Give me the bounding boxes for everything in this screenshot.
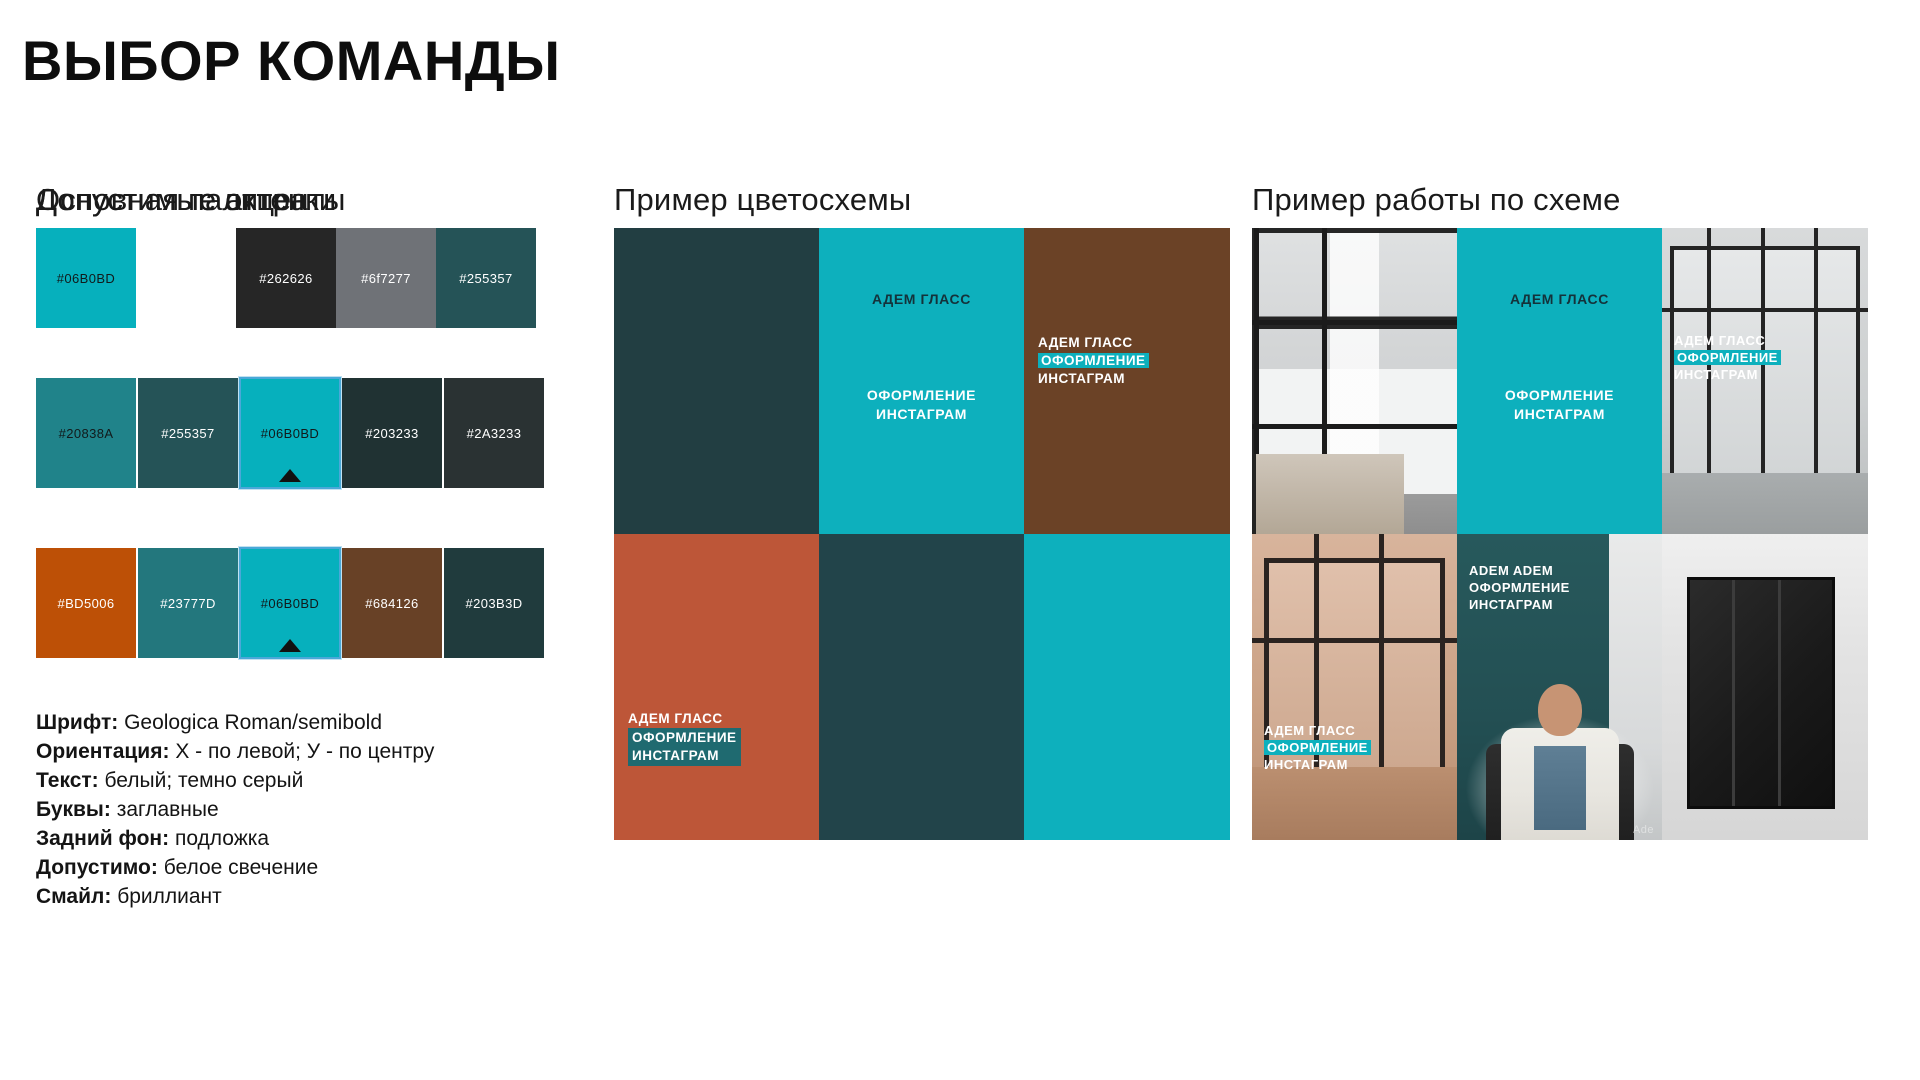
- scheme-cell-3-text: АДЕМ ГЛАСС ОФОРМЛЕНИЕ ИНСТАГРАМ: [1038, 334, 1149, 388]
- person-overlay-name: ADEM ADEM: [1469, 562, 1570, 579]
- teal-panel-line1: ОФОРМЛЕНИЕ: [1457, 386, 1662, 405]
- scheme-cell-4-line2: ИНСТАГРАМ: [632, 747, 737, 765]
- swatch-label: #BD5006: [57, 596, 114, 611]
- teal-panel-name: АДЕМ ГЛАСС: [1457, 290, 1662, 309]
- spec-value: подложка: [175, 827, 269, 850]
- swatch-accent-2[interactable]: #06B0BD: [240, 548, 340, 658]
- swatch-label: #06B0BD: [261, 426, 319, 441]
- scheme-cell-3-name: АДЕМ ГЛАСС: [1038, 334, 1149, 352]
- person-overlay-line2: ИНСТАГРАМ: [1469, 596, 1570, 613]
- swatch-shade-2[interactable]: #06B0BD: [240, 378, 340, 488]
- swatch-label: #684126: [365, 596, 418, 611]
- swatch-label: #203233: [365, 426, 418, 441]
- photo-bedroom: [1252, 228, 1457, 534]
- spec-value: X - по левой; У - по центру: [175, 740, 434, 763]
- wood-overlay-line1: ОФОРМЛЕНИЕ: [1264, 740, 1371, 755]
- spec-row-orientation: Ориентация: X - по левой; У - по центру: [36, 737, 434, 766]
- spec-row-font: Шрифт: Geologica Roman/semibold: [36, 708, 434, 737]
- spec-row-smile: Смайл: бриллиант: [36, 882, 434, 911]
- scheme-cell-2-line1: ОФОРМЛЕНИЕ: [819, 386, 1024, 405]
- spec-key: Текст:: [36, 769, 99, 792]
- swatch-main-3[interactable]: #255357: [436, 228, 536, 328]
- section-title-work: Пример работы по схеме: [1252, 182, 1621, 218]
- spec-row-allowed: Допустимо: белое свечение: [36, 853, 434, 882]
- selected-marker-icon: [279, 469, 301, 482]
- office-overlay-line2: ИНСТАГРАМ: [1674, 366, 1781, 383]
- swatch-shade-4[interactable]: #2A3233: [444, 378, 544, 488]
- swatch-label: #06B0BD: [261, 596, 319, 611]
- dark-cabin: [1687, 577, 1835, 810]
- spec-key: Буквы:: [36, 798, 111, 821]
- scheme-cell-4-name: АДЕМ ГЛАСС: [628, 710, 741, 728]
- swatch-label: #20838A: [59, 426, 114, 441]
- swatch-label: #23777D: [160, 596, 216, 611]
- swatch-accent-0[interactable]: #BD5006: [36, 548, 136, 658]
- swatch-shade-0[interactable]: #20838A: [36, 378, 136, 488]
- wood-overlay-text: АДЕМ ГЛАСС ОФОРМЛЕНИЕ ИНСТАГРАМ: [1264, 722, 1371, 773]
- scheme-cell-6: [1024, 534, 1230, 840]
- wood-overlay-name: АДЕМ ГЛАСС: [1264, 722, 1371, 739]
- swatch-label: #203B3D: [465, 596, 522, 611]
- spec-row-letters: Буквы: заглавные: [36, 795, 434, 824]
- teal-panel-sub: ОФОРМЛЕНИЕ ИНСТАГРАМ: [1457, 386, 1662, 424]
- scheme-cell-1: [614, 228, 819, 534]
- swatch-label: #255357: [161, 426, 214, 441]
- scheme-cell-4-text: АДЕМ ГЛАСС ОФОРМЛЕНИЕ ИНСТАГРАМ: [628, 710, 741, 766]
- swatch-accent-3[interactable]: #684126: [342, 548, 442, 658]
- swatch-label: #255357: [459, 271, 512, 286]
- swatch-main-0[interactable]: #06B0BD: [36, 228, 136, 328]
- swatch-main-2[interactable]: #6f7277: [336, 228, 436, 328]
- spec-value: белое свечение: [164, 856, 319, 879]
- swatch-accent-1[interactable]: #23777D: [138, 548, 238, 658]
- teal-panel-top: АДЕМ ГЛАСС ОФОРМЛЕНИЕ ИНСТАГРАМ: [1457, 228, 1662, 534]
- spec-value: Geologica Roman/semibold: [124, 711, 382, 734]
- swatch-main-1[interactable]: #262626: [236, 228, 336, 328]
- person-overlay-text: ADEM ADEM ОФОРМЛЕНИЕ ИНСТАГРАМ: [1469, 562, 1570, 613]
- main-palette-row: #06B0BD #262626 #6f7277 #255357: [36, 228, 536, 328]
- swatch-shade-1[interactable]: #255357: [138, 378, 238, 488]
- swatch-accent-4[interactable]: #203B3D: [444, 548, 544, 658]
- photo-office: АДЕМ ГЛАСС ОФОРМЛЕНИЕ ИНСТАГРАМ: [1662, 228, 1868, 534]
- section-title-scheme: Пример цветосхемы: [614, 182, 911, 218]
- scheme-cell-3-line2: ИНСТАГРАМ: [1038, 370, 1149, 388]
- spec-key: Шрифт:: [36, 711, 118, 734]
- swatch-label: #262626: [259, 271, 312, 286]
- spec-key: Ориентация:: [36, 740, 169, 763]
- section-title-accents: Допустимые акценты: [36, 182, 346, 218]
- person-overlay-line1: ОФОРМЛЕНИЕ: [1469, 579, 1570, 596]
- spec-value: заглавные: [117, 798, 219, 821]
- selected-marker-icon: [279, 639, 301, 652]
- scheme-cell-2-line2: ИНСТАГРАМ: [819, 405, 1024, 424]
- scheme-cell-3: АДЕМ ГЛАСС ОФОРМЛЕНИЕ ИНСТАГРАМ: [1024, 228, 1230, 534]
- slide-root: ВЫБОР КОМАНДЫ Основная палитра #06B0BD #…: [0, 0, 1920, 1080]
- scheme-cell-3-line1: ОФОРМЛЕНИЕ: [1038, 353, 1149, 368]
- scheme-cell-2-sub: ОФОРМЛЕНИЕ ИНСТАГРАМ: [819, 386, 1024, 424]
- scheme-cell-4-line1: ОФОРМЛЕНИЕ: [632, 729, 737, 747]
- watermark: Ade: [1633, 824, 1654, 836]
- work-photo-grid: АДЕМ ГЛАСС ОФОРМЛЕНИЕ ИНСТАГРАМ АДЕМ ГЛА…: [1252, 228, 1868, 840]
- spec-value: белый; темно серый: [105, 769, 304, 792]
- swatch-label: #06B0BD: [57, 271, 115, 286]
- swatch-label: #6f7277: [361, 271, 411, 286]
- page-title: ВЫБОР КОМАНДЫ: [22, 28, 560, 93]
- spec-row-text: Текст: белый; темно серый: [36, 766, 434, 795]
- scheme-cell-5: [819, 534, 1024, 840]
- photo-wood: АДЕМ ГЛАСС ОФОРМЛЕНИЕ ИНСТАГРАМ: [1252, 534, 1457, 840]
- office-overlay-name: АДЕМ ГЛАСС: [1674, 332, 1781, 349]
- scheme-cell-4: АДЕМ ГЛАСС ОФОРМЛЕНИЕ ИНСТАГРАМ: [614, 534, 819, 840]
- scheme-cell-2: АДЕМ ГЛАСС ОФОРМЛЕНИЕ ИНСТАГРАМ: [819, 228, 1024, 534]
- bedroom-bed: [1252, 454, 1404, 534]
- office-overlay-text: АДЕМ ГЛАСС ОФОРМЛЕНИЕ ИНСТАГРАМ: [1674, 332, 1781, 383]
- scheme-cell-2-name: АДЕМ ГЛАСС: [819, 290, 1024, 309]
- scheme-grid: АДЕМ ГЛАСС ОФОРМЛЕНИЕ ИНСТАГРАМ АДЕМ ГЛА…: [614, 228, 1230, 840]
- spec-list: Шрифт: Geologica Roman/semibold Ориентац…: [36, 708, 434, 911]
- accents-row: #BD5006 #23777D #06B0BD #684126 #203B3D: [36, 548, 544, 658]
- spec-row-background: Задний фон: подложка: [36, 824, 434, 853]
- photo-dark-box: [1662, 534, 1868, 840]
- spec-key: Задний фон:: [36, 827, 169, 850]
- office-overlay-line1: ОФОРМЛЕНИЕ: [1674, 350, 1781, 365]
- swatch-shade-3[interactable]: #203233: [342, 378, 442, 488]
- spec-value: бриллиант: [117, 885, 222, 908]
- photo-person: ADEM ADEM ОФОРМЛЕНИЕ ИНСТАГРАМ Ade: [1457, 534, 1662, 840]
- swatch-label: #2A3233: [467, 426, 522, 441]
- spec-key: Смайл:: [36, 885, 111, 908]
- wood-overlay-line2: ИНСТАГРАМ: [1264, 756, 1371, 773]
- bedroom-floor: [1252, 494, 1457, 534]
- spec-key: Допустимо:: [36, 856, 158, 879]
- teal-panel-line2: ИНСТАГРАМ: [1457, 405, 1662, 424]
- shades-row: #20838A #255357 #06B0BD #203233 #2A3233: [36, 378, 544, 488]
